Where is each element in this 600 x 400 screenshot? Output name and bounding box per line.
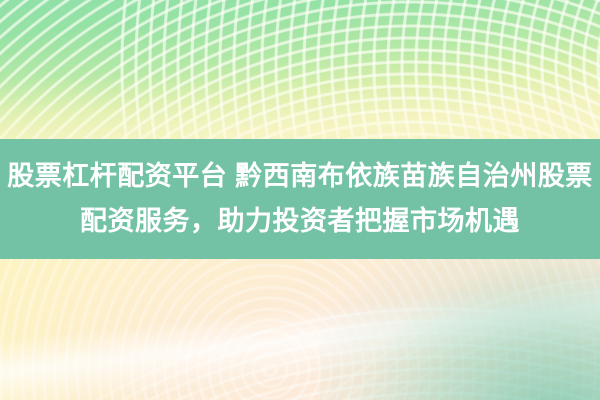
headline-line-1: 股票杠杆配资平台 黔西南布依族苗族自治州股票 [7,154,593,199]
top-decoration-band [0,0,600,140]
teal-corner-glow [320,259,600,400]
headline-band: 股票杠杆配资平台 黔西南布依族苗族自治州股票 配资服务，助力投资者把握市场机遇 [0,139,600,259]
bottom-decoration-band [0,259,600,400]
headline-line-2: 配资服务，助力投资者把握市场机遇 [80,199,520,244]
promo-banner: 股票杠杆配资平台 黔西南布依族苗族自治州股票 配资服务，助力投资者把握市场机遇 [0,0,600,400]
top-band-fade-overlay [0,0,600,140]
